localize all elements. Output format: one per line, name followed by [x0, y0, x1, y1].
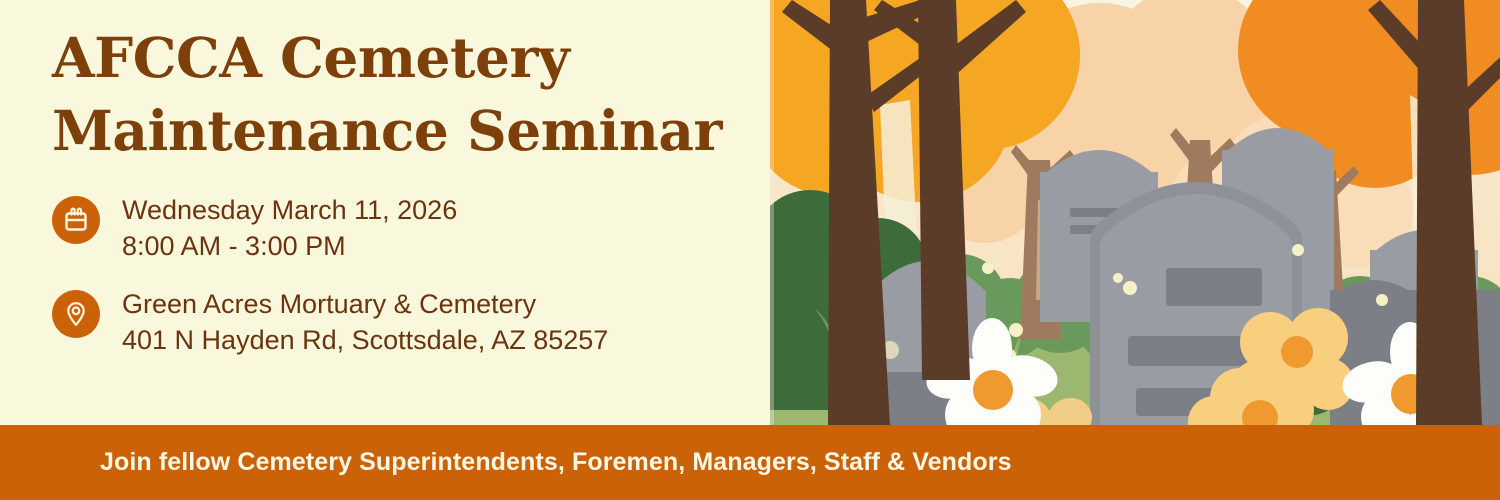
event-date-text: Wednesday March 11, 2026 8:00 AM - 3:00 … — [122, 193, 457, 265]
event-venue-line: Green Acres Mortuary & Cemetery — [122, 287, 608, 323]
calendar-icon — [52, 196, 100, 244]
title-line-1: AFCCA Cemetery — [52, 22, 752, 95]
event-date-row: Wednesday March 11, 2026 8:00 AM - 3:00 … — [52, 193, 770, 265]
event-banner: AFCCA Cemetery Maintenance Seminar Wedne… — [0, 0, 1500, 500]
event-info-panel: AFCCA Cemetery Maintenance Seminar Wedne… — [0, 0, 770, 425]
event-date-line: Wednesday March 11, 2026 — [122, 193, 457, 229]
map-pin-icon — [52, 290, 100, 338]
title-line-2: Maintenance Seminar — [52, 95, 752, 168]
cemetery-illustration — [770, 0, 1500, 425]
flower-center — [973, 370, 1013, 410]
event-address-line: 401 N Hayden Rd, Scottsdale, AZ 85257 — [122, 323, 608, 359]
event-location-row: Green Acres Mortuary & Cemetery 401 N Ha… — [52, 287, 770, 359]
engraving-block — [1166, 268, 1262, 306]
event-time-line: 8:00 AM - 3:00 PM — [122, 229, 457, 265]
cta-banner: Join fellow Cemetery Superintendents, Fo… — [0, 425, 1500, 500]
event-location-text: Green Acres Mortuary & Cemetery 401 N Ha… — [122, 287, 608, 359]
event-details-list: Wednesday March 11, 2026 8:00 AM - 3:00 … — [52, 193, 770, 359]
page-title: AFCCA Cemetery Maintenance Seminar — [52, 22, 752, 167]
flower-center — [1281, 336, 1313, 368]
cta-text: Join fellow Cemetery Superintendents, Fo… — [100, 448, 1012, 477]
